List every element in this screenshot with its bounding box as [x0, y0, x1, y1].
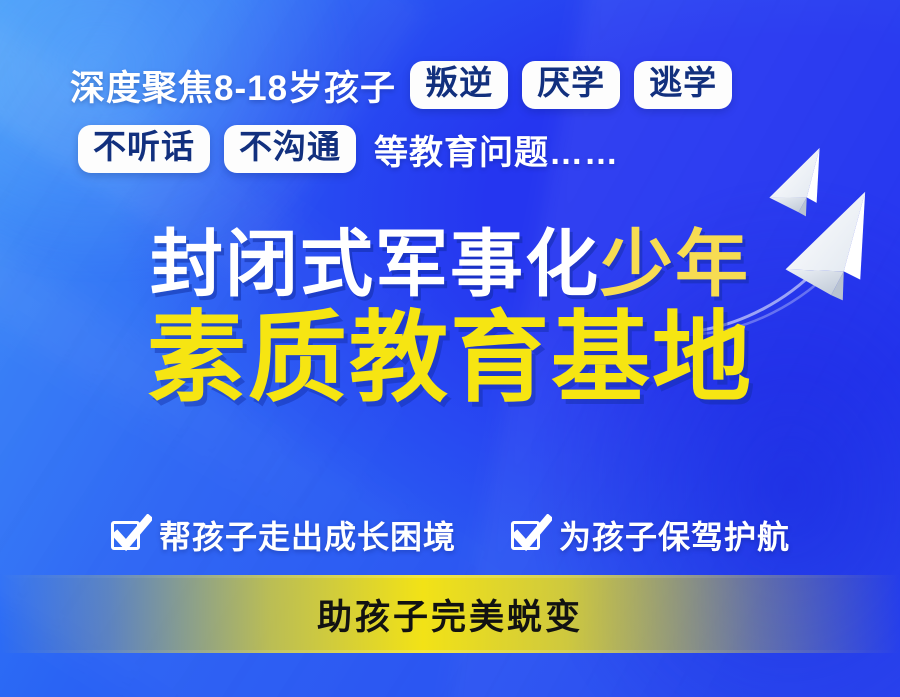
headline-line-1: 封闭式军事化少年	[0, 228, 900, 302]
headline-line-1-white: 封闭式军事化	[150, 224, 600, 305]
feature-item-1: 帮孩子走出成长困境	[110, 512, 456, 558]
feature-item-2: 为孩子保驾护航	[510, 512, 790, 558]
feature-label-1: 帮孩子走出成长困境	[159, 512, 456, 558]
tagline-section: 深度聚焦8-18岁孩子 叛逆 厌学 逃学 不听话 不沟通 等教育问题……	[0, 56, 900, 178]
bottom-ribbon: 助孩子完美蜕变	[0, 575, 900, 653]
checkbox-checked-icon	[510, 517, 546, 553]
feature-check-list: 帮孩子走出成长困境 为孩子保驾护航	[0, 512, 900, 558]
tagline-lead-text: 深度聚焦8-18岁孩子	[70, 60, 396, 111]
ribbon-slogan: 助孩子完美蜕变	[317, 589, 583, 640]
tag-chip-rebellious[interactable]: 叛逆	[410, 61, 508, 110]
tagline-tail-text: 等教育问题……	[374, 125, 619, 174]
headline-block: 封闭式军事化少年 素质教育基地	[0, 228, 900, 407]
tag-chip-school-aversion[interactable]: 厌学	[522, 61, 620, 110]
tag-chip-disobedient[interactable]: 不听话	[78, 125, 210, 174]
feature-label-2: 为孩子保驾护航	[559, 512, 790, 558]
promo-banner: 深度聚焦8-18岁孩子 叛逆 厌学 逃学 不听话 不沟通 等教育问题…… 封闭式…	[0, 0, 900, 697]
headline-line-1-yellow: 少年	[600, 224, 750, 305]
tagline-row-2: 不听话 不沟通 等教育问题……	[0, 120, 900, 178]
tag-chip-uncommunicative[interactable]: 不沟通	[224, 125, 356, 174]
headline-line-2: 素质教育基地	[0, 308, 900, 407]
tag-chip-truancy[interactable]: 逃学	[634, 61, 732, 110]
checkbox-checked-icon	[110, 517, 146, 553]
tagline-row-1: 深度聚焦8-18岁孩子 叛逆 厌学 逃学	[0, 56, 900, 114]
